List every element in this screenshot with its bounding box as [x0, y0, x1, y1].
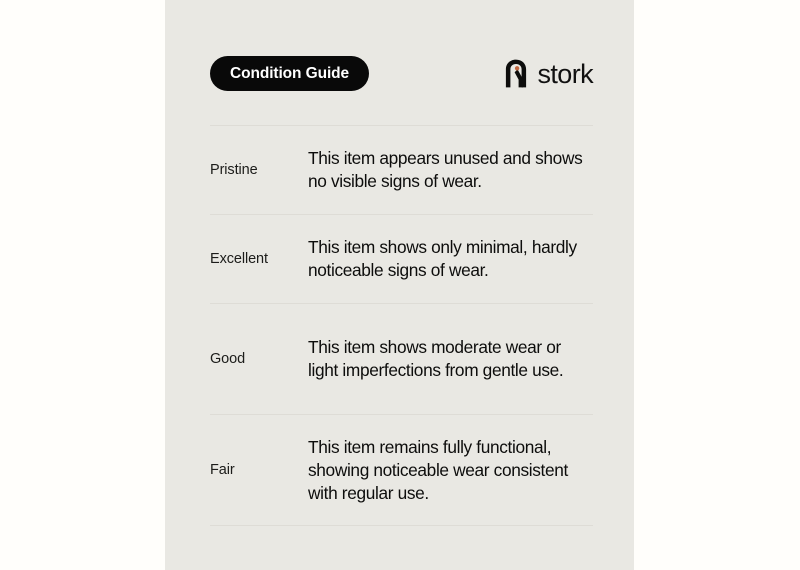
condition-description: This item shows only minimal, hardly not…: [308, 236, 593, 282]
table-row: Good This item shows moderate wear or li…: [210, 304, 593, 414]
condition-label: Good: [210, 351, 308, 367]
table-row: Pristine This item appears unused and sh…: [210, 126, 593, 214]
condition-label: Pristine: [210, 162, 308, 178]
condition-table: Pristine This item appears unused and sh…: [210, 125, 593, 526]
condition-description: This item shows moderate wear or light i…: [308, 336, 593, 382]
page-root: Condition Guide stork Pristine This item…: [0, 0, 800, 570]
condition-label: Excellent: [210, 251, 308, 267]
brand-wordmark: stork: [537, 61, 593, 88]
condition-guide-badge: Condition Guide: [210, 56, 369, 91]
card-header: Condition Guide stork: [210, 56, 593, 92]
card-content: Condition Guide stork Pristine This item…: [210, 0, 593, 570]
condition-label: Fair: [210, 462, 308, 478]
condition-description: This item appears unused and shows no vi…: [308, 147, 593, 193]
table-row: Excellent This item shows only minimal, …: [210, 215, 593, 303]
brand-lockup: stork: [504, 54, 593, 92]
condition-description: This item remains fully functional, show…: [308, 436, 593, 505]
table-row: Fair This item remains fully functional,…: [210, 415, 593, 525]
condition-guide-card: Condition Guide stork Pristine This item…: [165, 0, 634, 570]
stork-bird-arch-icon: [504, 58, 528, 89]
table-divider-bottom: [210, 525, 593, 526]
